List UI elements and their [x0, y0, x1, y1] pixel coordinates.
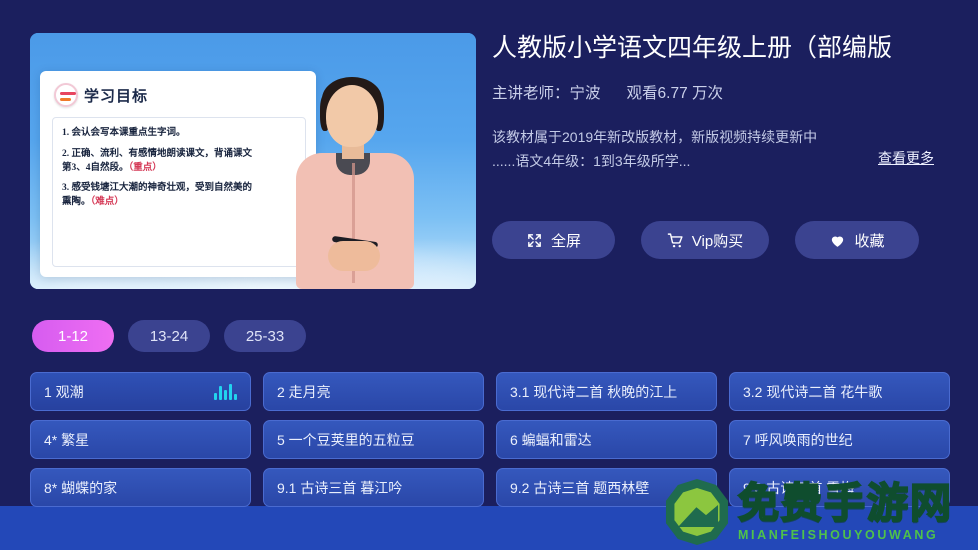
slide-objective-2-text-a: 2. 正确、流利、有感情地朗读课文，背诵课文 [62, 149, 252, 159]
course-detail-page: 学习目标 1. 会认会写本课重点生字词。 2. 正确、流利、有感情地朗读课文，背… [0, 0, 978, 550]
course-header-section: 学习目标 1. 会认会写本课重点生字词。 2. 正确、流利、有感情地朗读课文，背… [0, 0, 978, 306]
lesson-item-label: 9.3 古诗三首 雪梅 [743, 478, 854, 498]
tab-range-25-33[interactable]: 25-33 [224, 320, 306, 352]
footer-band [0, 506, 978, 550]
views-label: 观看6.77 万次 [627, 81, 723, 103]
video-player[interactable]: 学习目标 1. 会认会写本课重点生字词。 2. 正确、流利、有感情地朗读课文，背… [30, 33, 476, 289]
lesson-item[interactable]: 7 呼风唤雨的世纪 [729, 420, 950, 459]
fullscreen-icon [526, 232, 543, 249]
lesson-item-label: 9.1 古诗三首 暮江吟 [277, 478, 402, 498]
lesson-item[interactable]: 1 观潮 [30, 372, 251, 411]
slide-objective-3-text-b: 熏陶。 [62, 197, 91, 207]
tab-range-1-12-label: 1-12 [58, 328, 88, 345]
favorite-button[interactable]: 收藏 [795, 221, 919, 259]
lesson-item[interactable]: 4* 繁星 [30, 420, 251, 459]
lesson-item-label: 3.1 现代诗二首 秋晚的江上 [510, 382, 677, 402]
slide-title: 学习目标 [84, 85, 148, 106]
lesson-item[interactable]: 3.1 现代诗二首 秋晚的江上 [496, 372, 717, 411]
view-more-link[interactable]: 查看更多 [878, 148, 934, 168]
lesson-item[interactable]: 9.2 古诗三首 题西林壁 [496, 468, 717, 507]
slide-objective-1: 1. 会认会写本课重点生字词。 [62, 127, 297, 141]
lesson-item[interactable]: 2 走月亮 [263, 372, 484, 411]
lesson-item-label: 5 一个豆荚里的五粒豆 [277, 430, 415, 450]
heart-icon [829, 232, 846, 249]
slide-objective-3-mark: （难点） [91, 197, 124, 207]
lesson-item[interactable]: 6 蝙蝠和雷达 [496, 420, 717, 459]
slide-objective-3: 3. 感受钱塘江大潮的神奇壮观，受到自然美的 熏陶。（难点） [62, 182, 297, 210]
tab-range-13-24-label: 13-24 [150, 328, 188, 345]
course-description-line-2: ......语文4年级：1到3年级所学... [492, 149, 932, 173]
lesson-item-label: 4* 繁星 [44, 430, 89, 450]
action-button-row: 全屏 Vip购买 收藏 [492, 221, 978, 259]
lesson-slide: 学习目标 1. 会认会写本课重点生字词。 2. 正确、流利、有感情地朗读课文，背… [40, 71, 316, 277]
slide-objective-2-mark: （重点） [129, 163, 162, 173]
lesson-item-label: 7 呼风唤雨的世纪 [743, 430, 853, 450]
lesson-item-label: 6 蝙蝠和雷达 [510, 430, 592, 450]
fullscreen-button[interactable]: 全屏 [492, 221, 615, 259]
course-meta: 主讲老师：宁波 观看6.77 万次 [492, 81, 978, 103]
audio-waveform-icon [214, 384, 237, 400]
lesson-item[interactable]: 5 一个豆荚里的五粒豆 [263, 420, 484, 459]
lesson-item[interactable]: 8* 蝴蝶的家 [30, 468, 251, 507]
fullscreen-button-label: 全屏 [551, 230, 581, 251]
lesson-item-label: 2 走月亮 [277, 382, 331, 402]
slide-objective-2-text-b: 第3、4自然段。 [62, 163, 129, 173]
slide-objective-3-text-a: 3. 感受钱塘江大潮的神奇壮观，受到自然美的 [62, 183, 252, 193]
teacher-figure [280, 71, 430, 289]
lesson-range-tabs: 1-12 13-24 25-33 [32, 320, 306, 352]
slide-objective-2: 2. 正确、流利、有感情地朗读课文，背诵课文 第3、4自然段。（重点） [62, 148, 297, 176]
lesson-item[interactable]: 3.2 现代诗二首 花牛歌 [729, 372, 950, 411]
cart-icon [667, 232, 684, 249]
slide-heading: 学习目标 [54, 83, 148, 107]
lesson-item[interactable]: 9.1 古诗三首 暮江吟 [263, 468, 484, 507]
tab-range-13-24[interactable]: 13-24 [128, 320, 210, 352]
teacher-label: 主讲老师：宁波 [492, 81, 601, 103]
tab-range-25-33-label: 25-33 [246, 328, 284, 345]
slide-objectives-list: 1. 会认会写本课重点生字词。 2. 正确、流利、有感情地朗读课文，背诵课文 第… [52, 117, 306, 267]
course-description: 该教材属于2019年新改版教材，新版视频持续更新中 ......语文4年级：1到… [492, 125, 932, 173]
lesson-item[interactable]: 9.3 古诗三首 雪梅 [729, 468, 950, 507]
course-info: 人教版小学语文四年级上册（部编版 主讲老师：宁波 观看6.77 万次 该教材属于… [492, 33, 978, 259]
lesson-grid: 1 观潮 2 走月亮 3.1 现代诗二首 秋晚的江上 3.2 现代诗二首 花牛歌… [30, 372, 950, 507]
course-description-line-1: 该教材属于2019年新改版教材，新版视频持续更新中 [492, 125, 932, 149]
tab-range-1-12[interactable]: 1-12 [32, 320, 114, 352]
page-title: 人教版小学语文四年级上册（部编版 [492, 33, 978, 63]
vip-purchase-button-label: Vip购买 [692, 230, 743, 251]
lesson-item-label: 1 观潮 [44, 382, 84, 402]
favorite-button-label: 收藏 [854, 230, 884, 251]
vip-purchase-button[interactable]: Vip购买 [641, 221, 769, 259]
slide-badge-icon [54, 83, 78, 107]
lesson-item-label: 8* 蝴蝶的家 [44, 478, 117, 498]
lesson-item-label: 3.2 现代诗二首 花牛歌 [743, 382, 882, 402]
lesson-item-label: 9.2 古诗三首 题西林壁 [510, 478, 649, 498]
